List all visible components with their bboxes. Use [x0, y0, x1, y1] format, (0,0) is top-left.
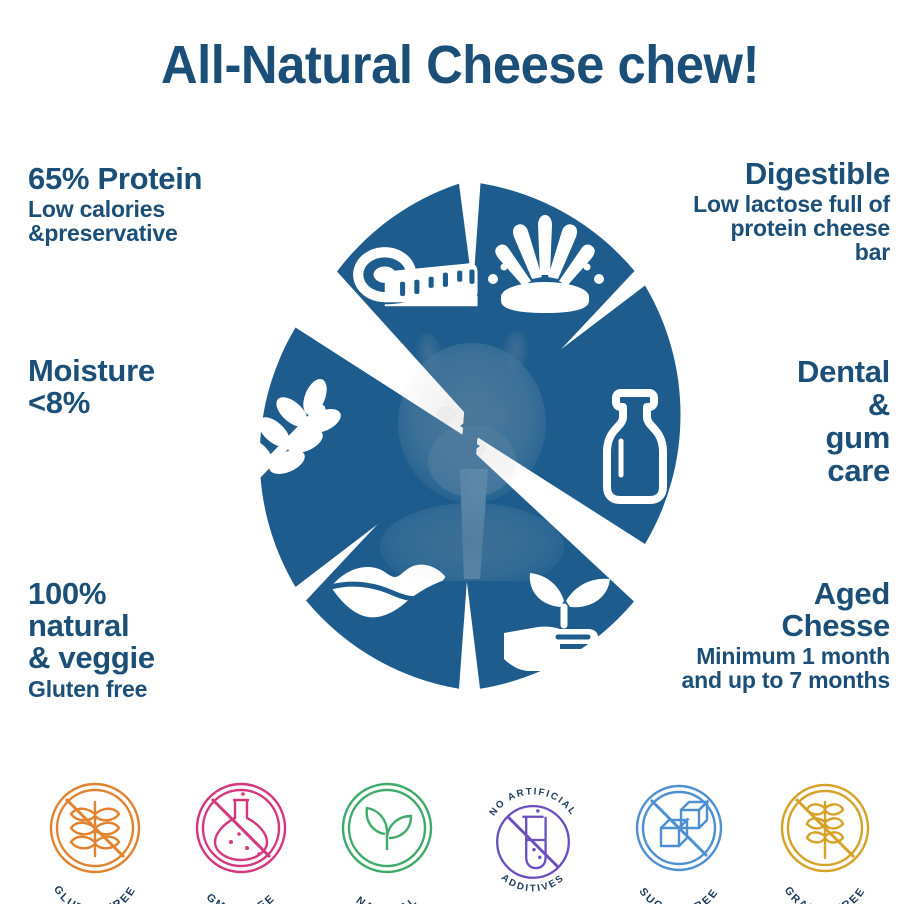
badge-label-gluten-free: GLUTEN FREE [51, 884, 139, 904]
badge-gmo-free: GMO FREE [180, 775, 302, 905]
badge-gluten-free: GLUTEN FREE [34, 775, 156, 905]
feature-heading-moisture: Moisture [28, 355, 278, 387]
badge-label-gmo-free: GMO FREE [204, 891, 279, 904]
svg-text:NO ARTIFICIAL: NO ARTIFICIAL [487, 786, 578, 818]
feature-heading-dental-1: Dental [660, 356, 890, 389]
feature-heading-dental-2: & [660, 389, 890, 422]
page-title: All-Natural Cheese chew! [28, 34, 893, 96]
svg-text:GMO FREE: GMO FREE [204, 891, 279, 904]
feature-label-natural: 100% natural & veggie Gluten free [28, 578, 278, 702]
feature-heading-natural-2: natural [28, 610, 278, 642]
feature-heading-digestible: Digestible [620, 158, 890, 190]
feature-sub-aged: Minimum 1 month and up to 7 months [600, 645, 890, 693]
feature-sub-protein: Low calories &preservative [28, 198, 308, 246]
svg-text:GLUTEN FREE: GLUTEN FREE [51, 884, 139, 904]
feature-heading-aged-2: Chesse [600, 610, 890, 642]
feature-label-aged: Aged Chesse Minimum 1 month and up to 7 … [600, 578, 890, 693]
badge-grains-free: GRAINS FREE [764, 775, 886, 905]
feature-label-digestible: Digestible Low lactose full of protein c… [620, 158, 890, 265]
feature-label-moisture: Moisture <8% [28, 355, 278, 419]
feature-heading-protein: 65% Protein [28, 163, 308, 195]
badge-label-natural: NATURAL [354, 895, 421, 904]
svg-text:NATURAL: NATURAL [354, 895, 421, 904]
feature-heading-natural-1: 100% [28, 578, 278, 610]
feature-heading-dental-4: care [660, 455, 890, 488]
feature-heading-natural-3: & veggie [28, 642, 278, 674]
certification-badge-row: GLUTEN FREE GMO FREE [0, 770, 920, 910]
badge-label-grains-free: GRAINS FREE [782, 885, 869, 904]
badge-label-additives: ADDITIVES [499, 872, 567, 894]
feature-sub-digestible: Low lactose full of protein cheese bar [620, 193, 890, 265]
feature-heading-moisture-value: <8% [28, 387, 278, 419]
feature-label-protein: 65% Protein Low calories &preservative [28, 163, 308, 246]
badge-no-artificial-additives: NO ARTIFICIAL ADDITIVES [472, 775, 594, 905]
feature-sub-natural: Gluten free [28, 678, 278, 702]
feature-heading-aged-1: Aged [600, 578, 890, 610]
badge-natural: NATURAL [326, 775, 448, 905]
svg-text:ADDITIVES: ADDITIVES [499, 872, 567, 894]
feature-heading-dental-3: gum [660, 422, 890, 455]
badge-label-sugar-free: SUGAR FREE [637, 886, 722, 904]
svg-text:GRAINS FREE: GRAINS FREE [782, 885, 869, 904]
svg-text:SUGAR FREE: SUGAR FREE [637, 886, 722, 904]
badge-sugar-free: SUGAR FREE [618, 775, 740, 905]
feature-label-dental: Dental & gum care [660, 356, 890, 487]
badge-label-no-artificial: NO ARTIFICIAL [487, 786, 578, 818]
